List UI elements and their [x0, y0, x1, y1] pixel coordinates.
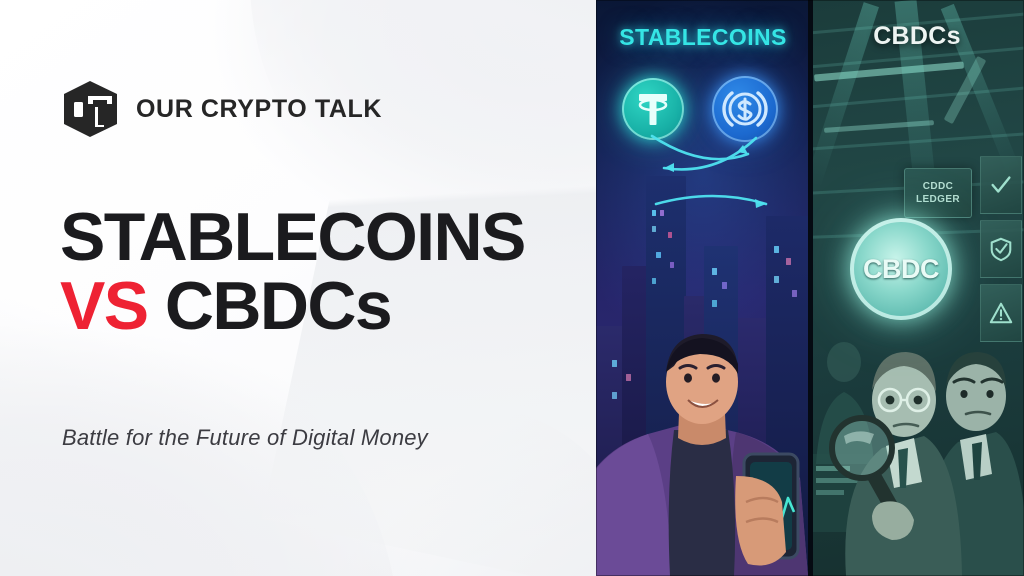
headline-line-2: VS CBDCs	[60, 274, 600, 339]
ledger-label-line-1: CDDC	[923, 181, 954, 193]
artwork-panel: STABLECOINS	[596, 0, 1024, 576]
building-window	[652, 278, 656, 284]
cbdc-ledger-screen: CDDC LEDGER	[904, 168, 972, 218]
thumbnail-canvas: OUR CRYPTO TALK STABLECOINS VS CBDCs Bat…	[0, 0, 1024, 576]
headline-cbdcs: CBDCs	[165, 268, 391, 344]
stablecoin-illustration: STABLECOINS	[596, 0, 810, 576]
cbdc-illustration: CBDCs CDDC LEDGER CBDC	[810, 0, 1024, 576]
building-window	[712, 300, 717, 307]
headline-line-1: STABLECOINS	[60, 205, 600, 270]
shield-check-icon	[980, 220, 1022, 278]
check-icon	[980, 156, 1022, 214]
warning-triangle-icon	[980, 284, 1022, 342]
cbdc-panel-title: CBDCs	[810, 22, 1024, 51]
octagon-ct-monogram-icon	[60, 80, 122, 138]
stablecoin-user-illustration	[596, 326, 810, 576]
building-window	[792, 290, 797, 297]
cbdc-coin-label: CBDC	[863, 254, 939, 285]
headline-vs: VS	[60, 268, 148, 344]
compliance-icon-column	[980, 156, 1022, 348]
brand-name: OUR CRYPTO TALK	[136, 97, 382, 122]
ledger-label-line-2: LEDGER	[916, 194, 960, 206]
title-panel: OUR CRYPTO TALK STABLECOINS VS CBDCs Bat…	[0, 0, 600, 576]
building-window	[712, 268, 717, 275]
panel-divider	[808, 0, 813, 576]
brand-logo[interactable]: OUR CRYPTO TALK	[60, 80, 382, 138]
building-window	[670, 262, 674, 268]
stablecoin-panel-title: STABLECOINS	[596, 24, 810, 51]
subtitle: Battle for the Future of Digital Money	[62, 425, 428, 451]
cbdc-coin-icon: CBDC	[850, 218, 952, 320]
page-title: STABLECOINS VS CBDCs	[60, 205, 600, 340]
building-window	[774, 276, 779, 283]
cbdc-officials-illustration	[810, 324, 1024, 576]
building-window	[722, 282, 727, 289]
transaction-flow-arrows	[596, 130, 810, 260]
